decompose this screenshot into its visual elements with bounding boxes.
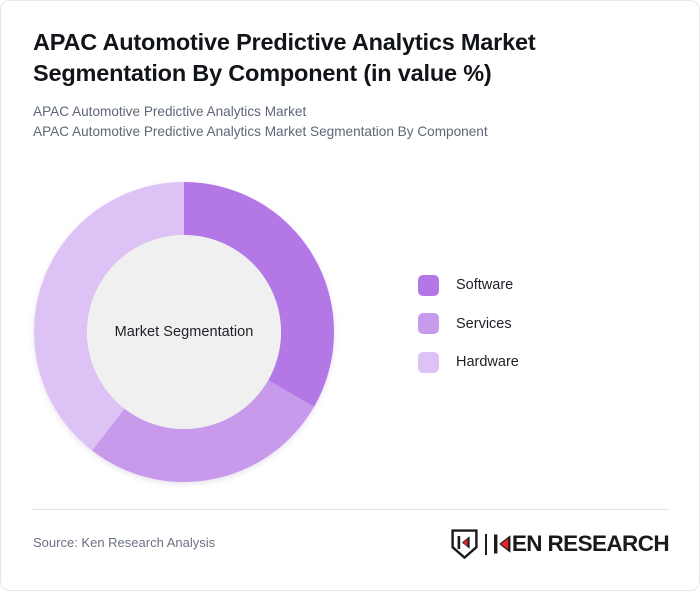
subtitle-line-2: APAC Automotive Predictive Analytics Mar… xyxy=(33,122,671,142)
chart-header: APAC Automotive Predictive Analytics Mar… xyxy=(33,27,671,141)
legend-swatch-hardware xyxy=(418,352,439,373)
legend-label-services: Services xyxy=(456,316,512,332)
brand-divider xyxy=(485,534,487,555)
chart-legend: Software Services Hardware xyxy=(418,275,519,391)
chart-area: Market Segmentation Software Services Ha… xyxy=(1,167,700,497)
legend-label-software: Software xyxy=(456,277,513,293)
brand-name: EN RESEARCH xyxy=(512,533,669,555)
donut-svg xyxy=(34,182,334,482)
legend-swatch-software xyxy=(418,275,439,296)
donut-chart: Market Segmentation xyxy=(34,182,334,482)
subtitle-block: APAC Automotive Predictive Analytics Mar… xyxy=(33,102,671,141)
brand-logo: EN RESEARCH xyxy=(451,529,669,559)
chart-card: APAC Automotive Predictive Analytics Mar… xyxy=(0,0,700,591)
legend-item-services[interactable]: Services xyxy=(418,314,519,334)
legend-label-hardware: Hardware xyxy=(456,354,519,370)
chart-footer: Source: Ken Research Analysis EN RESEARC… xyxy=(33,529,669,565)
footer-divider xyxy=(31,509,669,510)
legend-item-hardware[interactable]: Hardware xyxy=(418,352,519,372)
legend-swatch-services xyxy=(418,313,439,334)
subtitle-line-1: APAC Automotive Predictive Analytics Mar… xyxy=(33,102,671,122)
brand-k-icon xyxy=(493,533,512,555)
page-title: APAC Automotive Predictive Analytics Mar… xyxy=(33,27,593,89)
donut-hole xyxy=(87,235,281,429)
brand-wordmark: EN RESEARCH xyxy=(493,533,669,555)
legend-item-software[interactable]: Software xyxy=(418,275,519,295)
ken-research-shield-icon xyxy=(451,529,478,559)
source-text: Source: Ken Research Analysis xyxy=(33,535,215,550)
